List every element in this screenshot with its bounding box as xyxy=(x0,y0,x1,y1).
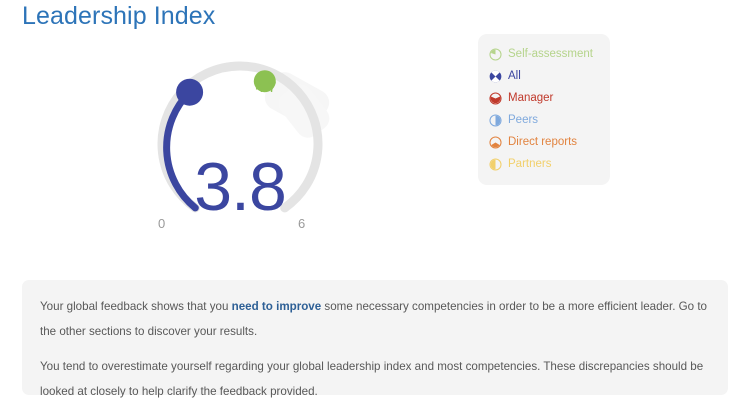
pie-half-icon xyxy=(489,114,502,127)
gauge-value-label: 3.8 xyxy=(140,153,340,221)
page-title: Leadership Index xyxy=(22,2,215,31)
pie-cross-icon xyxy=(489,70,502,83)
feedback-panel: Your global feedback shows that you need… xyxy=(22,280,728,395)
feedback-p1-before: Your global feedback shows that you xyxy=(40,300,232,313)
pie-bottom-icon xyxy=(489,92,502,105)
gauge-marker-label: 4.7 xyxy=(244,79,288,96)
gauge-value-endpoint xyxy=(176,79,203,106)
respondent-legend: Self-assessment All Manager Peers Direct… xyxy=(478,34,610,185)
leadership-index-gauge: 3.8 4.7 0 6 xyxy=(140,35,350,240)
gauge-tick-min: 0 xyxy=(158,216,165,231)
legend-item-peers[interactable]: Peers xyxy=(478,110,610,131)
legend-label: Direct reports xyxy=(508,136,577,149)
legend-item-manager[interactable]: Manager xyxy=(478,88,610,109)
legend-label: All xyxy=(508,70,521,83)
legend-label: Self-assessment xyxy=(508,48,593,61)
feedback-highlight: need to improve xyxy=(232,300,322,313)
pie-quarter-icon xyxy=(489,48,502,61)
feedback-paragraph-2: You tend to overestimate yourself regard… xyxy=(40,354,710,404)
legend-item-direct-reports[interactable]: Direct reports xyxy=(478,132,610,153)
legend-label: Partners xyxy=(508,158,551,171)
legend-label: Peers xyxy=(508,114,538,127)
pie-arc-icon xyxy=(489,136,502,149)
feedback-paragraph-1: Your global feedback shows that you need… xyxy=(40,294,710,344)
pie-left-icon xyxy=(489,158,502,171)
legend-item-self-assessment[interactable]: Self-assessment xyxy=(478,44,610,65)
legend-item-all[interactable]: All xyxy=(478,66,610,87)
legend-item-partners[interactable]: Partners xyxy=(478,154,610,175)
gauge-tick-max: 6 xyxy=(298,216,305,231)
legend-label: Manager xyxy=(508,92,553,105)
